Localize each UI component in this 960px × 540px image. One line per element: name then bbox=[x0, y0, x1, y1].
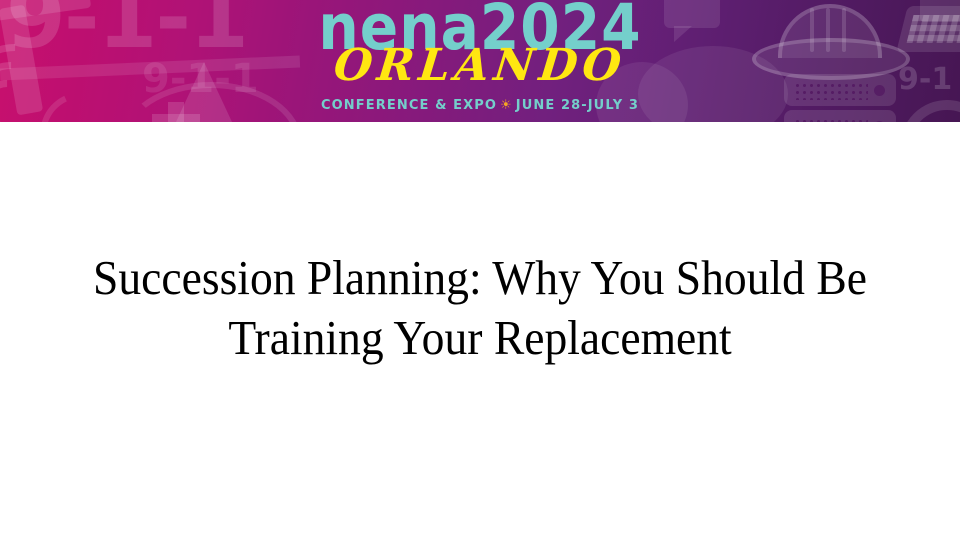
title-block: Succession Planning: Why You Should Be T… bbox=[48, 248, 912, 368]
orlando-script-wordmark: ORLANDO bbox=[0, 44, 960, 88]
conference-tagline: CONFERENCE & EXPO☀JUNE 28-JULY 3 bbox=[0, 99, 960, 112]
sun-icon: ☀ bbox=[497, 98, 516, 113]
nena-2024-logo-lockup: nena2024 ORLANDO CONFERENCE & EXPO☀JUNE … bbox=[0, 0, 960, 122]
page-title: Succession Planning: Why You Should Be T… bbox=[78, 248, 882, 368]
presentation-slide: 9-1-1 9-1-1 bbox=[0, 0, 960, 540]
tagline-right-text: JUNE 28-JULY 3 bbox=[516, 98, 639, 113]
tagline-left-text: CONFERENCE & EXPO bbox=[321, 98, 497, 113]
nena-conference-banner: 9-1-1 9-1-1 bbox=[0, 0, 960, 122]
